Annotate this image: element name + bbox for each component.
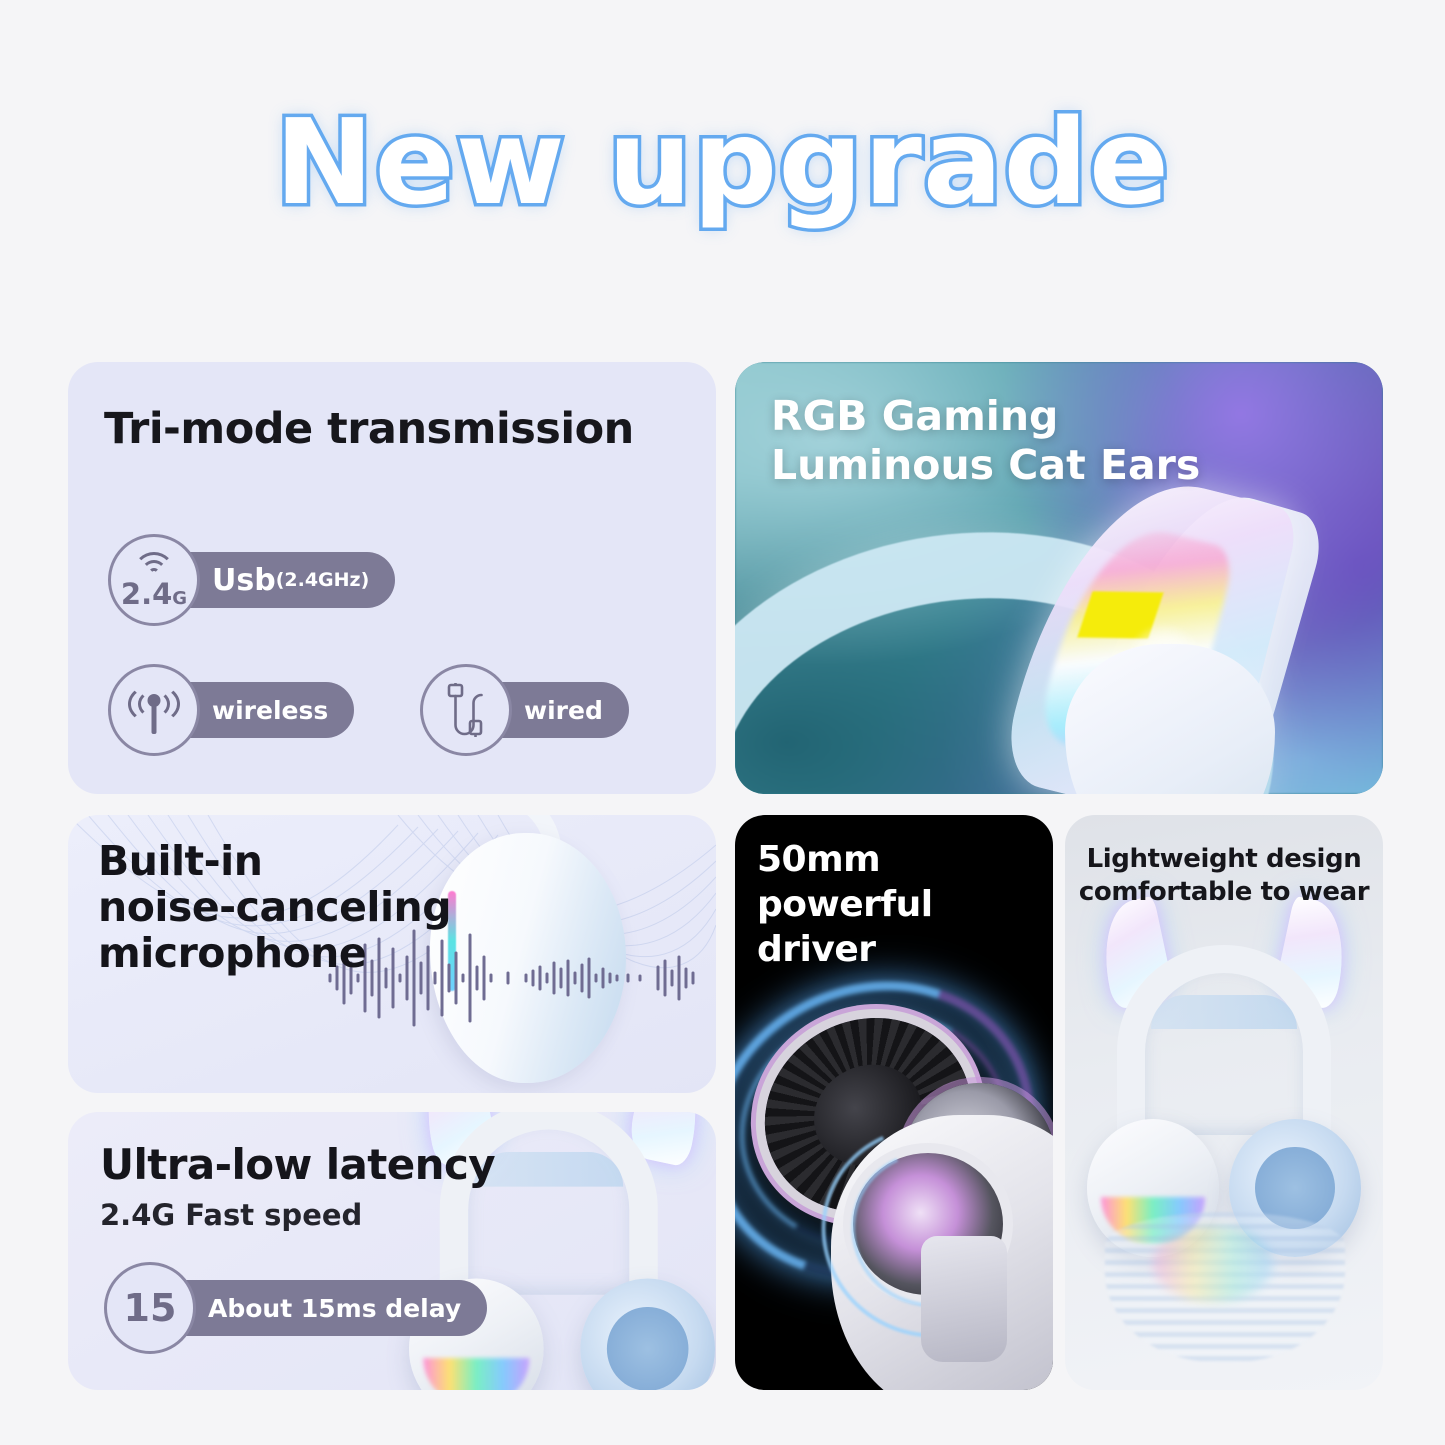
rgb-heading-line1: RGB Gaming (771, 392, 1200, 441)
driver-heading-line1: 50mm (757, 837, 1053, 882)
badge-circle-2-4g: 2.4G (108, 534, 200, 626)
rgb-heading-line2: Luminous Cat Ears (771, 441, 1200, 490)
badge-wired[interactable]: wired (420, 664, 629, 756)
card-lightweight-design[interactable]: Lightweight design comfortable to wear (1065, 815, 1383, 1390)
lightweight-heading-line2: comfortable to wear (1065, 876, 1383, 909)
badge-15-number: 15 (124, 1289, 177, 1327)
mic-heading-line1: Built-in (98, 839, 451, 885)
card-rgb-gaming-cat-ears[interactable]: RGB Gaming Luminous Cat Ears (735, 362, 1383, 794)
wifi-icon (131, 552, 177, 578)
tri-mode-heading: Tri-mode transmission (104, 404, 634, 454)
latency-heading: Ultra-low latency (100, 1140, 495, 1189)
mic-heading-line2: noise-canceling (98, 885, 451, 931)
usb-cable-icon (443, 681, 489, 739)
badge-circle-wireless (108, 664, 200, 756)
card-tri-mode-transmission[interactable]: Tri-mode transmission 2.4G Usb(2.4GHz) w (68, 362, 716, 794)
badge-circle-wired (420, 664, 512, 756)
card-noise-canceling-microphone[interactable]: Built-in noise-canceling microphone (68, 815, 716, 1093)
card-50mm-powerful-driver[interactable]: 50mm powerful driver (735, 815, 1053, 1390)
driver-heading-line2: powerful driver (757, 882, 1053, 972)
earcup-right-graphic (580, 1278, 715, 1390)
antenna-icon (126, 684, 182, 736)
microphone-heading: Built-in noise-canceling microphone (98, 839, 451, 977)
lightweight-heading-line1: Lightweight design (1065, 843, 1383, 876)
rgb-heading: RGB Gaming Luminous Cat Ears (771, 392, 1200, 490)
driver-heading: 50mm powerful driver (757, 837, 1053, 972)
mic-heading-line3: microphone (98, 931, 451, 977)
badge-usb-2-4g[interactable]: 2.4G Usb(2.4GHz) (108, 534, 395, 626)
badge-wireless[interactable]: wireless (108, 664, 354, 756)
badge-pill-usb-label: Usb (212, 563, 276, 598)
earcup-stem-graphic (921, 1236, 1007, 1362)
badge-pill-delay: About 15ms delay (150, 1280, 487, 1336)
headphone-product-photo (1093, 945, 1355, 1245)
badge-15ms-delay[interactable]: 15 About 15ms delay (104, 1262, 487, 1354)
earcup-graphic (1065, 644, 1275, 794)
card-ultra-low-latency[interactable]: Ultra-low latency 2.4G Fast speed 15 Abo… (68, 1112, 716, 1390)
water-reflection-graphic (1105, 1212, 1345, 1362)
badge-2-4g-unit: G (172, 588, 187, 609)
feature-card-grid: Tri-mode transmission 2.4G Usb(2.4GHz) w (0, 0, 1445, 1445)
badge-pill-usb-sub: (2.4GHz) (276, 569, 370, 591)
lightweight-heading: Lightweight design comfortable to wear (1065, 843, 1383, 908)
latency-subheading: 2.4G Fast speed (100, 1198, 362, 1232)
badge-circle-15: 15 (104, 1262, 196, 1354)
